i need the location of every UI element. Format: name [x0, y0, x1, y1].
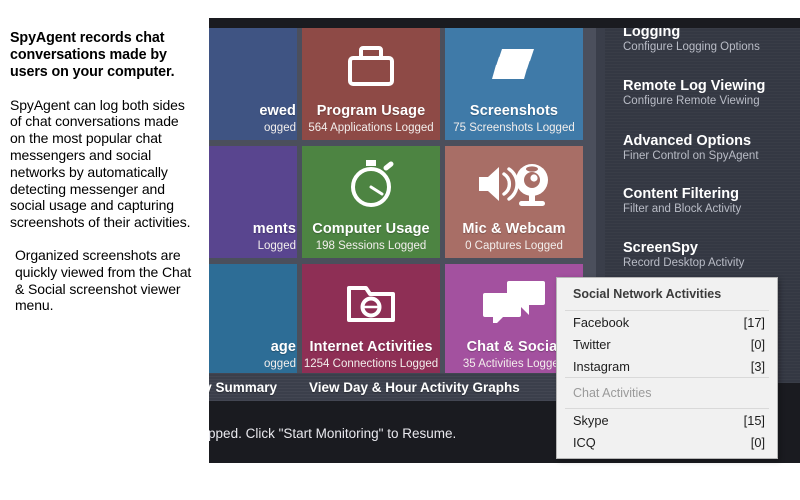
row-label: ICQ: [573, 435, 596, 450]
menu-item-title: ScreenSpy: [623, 240, 744, 256]
menu-item-title: Advanced Options: [623, 133, 759, 149]
side-menu-item-remote-log-viewing[interactable]: Remote Log ViewingConfigure Remote Viewi…: [605, 78, 765, 108]
tile-subtitle: 75 Screenshots Logged: [453, 122, 574, 134]
row-label: Twitter: [573, 337, 611, 352]
explanatory-note-overlay: SpyAgent records chat conversations made…: [0, 0, 209, 500]
row-label: Facebook: [573, 315, 629, 330]
tile-title: Computer Usage: [312, 222, 429, 237]
computer-usage-icon: [302, 146, 440, 222]
menu-item-title: Logging: [623, 28, 760, 40]
menu-item-title: Remote Log Viewing: [623, 78, 765, 94]
view-activity-graphs-button[interactable]: View Day & Hour Activity Graphs: [309, 380, 520, 395]
email-usage-icon: [209, 264, 297, 340]
menu-item-subtitle: Record Desktop Activity: [623, 257, 744, 270]
tile-program-usage[interactable]: Program Usage564 Applications Logged: [302, 28, 440, 140]
side-menu-item-logging[interactable]: LoggingConfigure Logging Options: [605, 28, 760, 54]
tile-subtitle: 35 Activities Logged: [463, 358, 565, 370]
tile-title: ewed: [209, 104, 297, 119]
menu-item-subtitle: Configure Remote Viewing: [623, 95, 765, 108]
documents-icon: [209, 146, 297, 222]
social-row-facebook[interactable]: Facebook[17]: [573, 311, 765, 333]
note-heading: SpyAgent records chat conversations made…: [10, 30, 197, 81]
row-count: [3]: [751, 359, 765, 374]
side-menu-item-advanced-options[interactable]: Advanced OptionsFiner Control on SpyAgen…: [605, 133, 759, 163]
social-row-instagram[interactable]: Instagram[3]: [573, 355, 765, 377]
popup-header-social: Social Network Activities: [573, 278, 765, 310]
row-label: Skype: [573, 413, 609, 428]
tile-title: Mic & Webcam: [462, 222, 565, 237]
activity-summary-button[interactable]: Activity Summary: [209, 380, 277, 395]
tile-subtitle: 0 Captures Logged: [465, 240, 563, 252]
tile-subtitle: 1254 Connections Logged: [304, 358, 438, 370]
mic-webcam-icon: [445, 146, 583, 222]
tile-documents[interactable]: mentsLogged: [209, 146, 297, 258]
tile-mic-webcam[interactable]: Mic & Webcam0 Captures Logged: [445, 146, 583, 258]
note-body-text: SpyAgent can log both sides of chat conv…: [10, 97, 197, 231]
tile-subtitle: ogged: [209, 358, 297, 370]
tile-title: ments: [209, 222, 297, 237]
internet-activities-icon: [302, 264, 440, 340]
program-usage-icon: [302, 28, 440, 104]
tile-keystrokes-viewed[interactable]: ewedogged: [209, 28, 297, 140]
tile-title: Program Usage: [317, 104, 425, 119]
chat-social-popup-menu: Social Network Activities Facebook[17]Tw…: [556, 277, 778, 459]
row-label: Instagram: [573, 359, 630, 374]
tile-title: Internet Activities: [309, 340, 432, 355]
popup-group-label-chat: Chat Activities: [573, 378, 765, 408]
monitoring-status-text: Monitoring Stopped. Click "Start Monitor…: [209, 426, 456, 441]
tile-computer-usage[interactable]: Computer Usage198 Sessions Logged: [302, 146, 440, 258]
social-network-rows: Facebook[17]Twitter[0]Instagram[3]: [557, 311, 777, 377]
chat-activity-rows: Skype[15]ICQ[0]: [557, 409, 777, 453]
tile-title: Chat & Social: [467, 340, 562, 355]
social-row-twitter[interactable]: Twitter[0]: [573, 333, 765, 355]
row-count: [0]: [751, 337, 765, 352]
menu-item-subtitle: Filter and Block Activity: [623, 203, 741, 216]
tile-title: Screenshots: [470, 104, 558, 119]
tile-subtitle: 564 Applications Logged: [308, 122, 433, 134]
tile-subtitle: ogged: [209, 122, 297, 134]
tile-screenshots[interactable]: Screenshots75 Screenshots Logged: [445, 28, 583, 140]
side-menu-item-screenspy[interactable]: ScreenSpyRecord Desktop Activity: [605, 240, 744, 270]
tile-email-usage[interactable]: ageogged: [209, 264, 297, 376]
menu-item-subtitle: Configure Logging Options: [623, 41, 760, 54]
chat-row-skype[interactable]: Skype[15]: [573, 409, 765, 431]
tile-subtitle: 198 Sessions Logged: [316, 240, 427, 252]
row-count: [17]: [744, 315, 765, 330]
note-footer-text: Organized screenshots are quickly viewed…: [10, 247, 197, 314]
tile-title: age: [209, 340, 297, 355]
tile-subtitle: Logged: [209, 240, 297, 252]
keystrokes-viewed-icon: [209, 28, 297, 104]
screenshots-icon: [445, 28, 583, 104]
side-menu-item-content-filtering[interactable]: Content FilteringFilter and Block Activi…: [605, 186, 741, 216]
row-count: [0]: [751, 435, 765, 450]
tile-internet-activities[interactable]: Internet Activities1254 Connections Logg…: [302, 264, 440, 376]
chat-row-icq[interactable]: ICQ[0]: [573, 431, 765, 453]
menu-item-subtitle: Finer Control on SpyAgent: [623, 150, 759, 163]
menu-item-title: Content Filtering: [623, 186, 741, 202]
row-count: [15]: [744, 413, 765, 428]
